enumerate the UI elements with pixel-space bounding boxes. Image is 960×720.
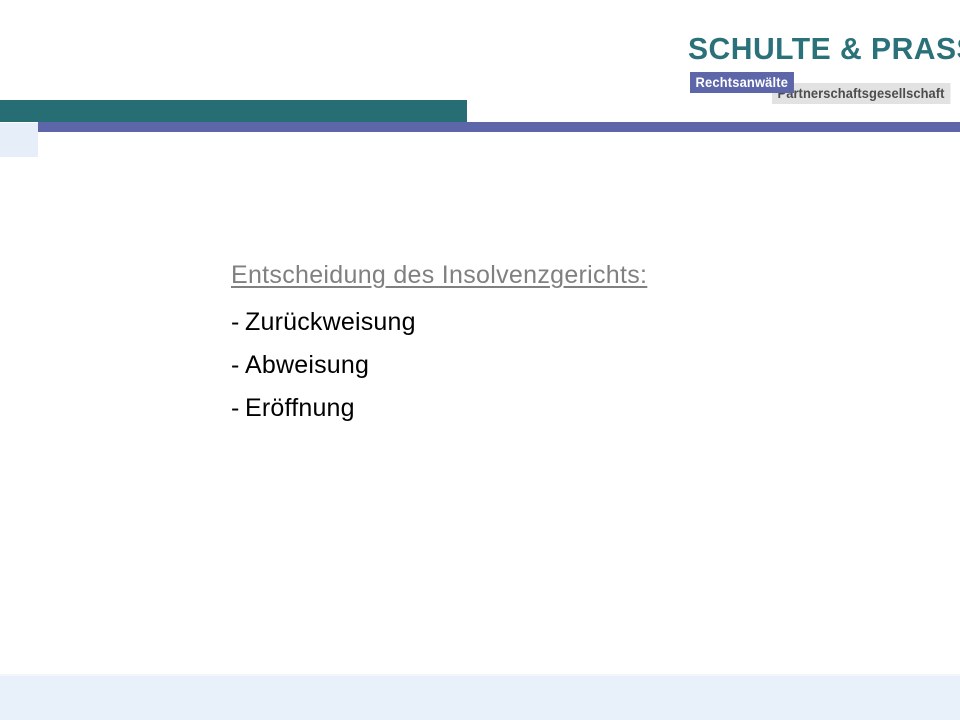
content-heading: Entscheidung des Insolvenzgerichts:: [231, 258, 881, 292]
list-item-label: Abweisung: [245, 351, 369, 379]
footer: SCHULTE & PRASSE | Stand 29.01.2016 | Fo…: [0, 676, 960, 720]
logo-subtitle-partnerschaftsgesellschaft: Partnerschaftsgesellschaft: [772, 83, 950, 104]
list-item: -Eröffnung: [231, 387, 881, 430]
logo-company-name: SCHULTE & PRASSE: [688, 32, 960, 66]
header-bar-teal: [0, 100, 467, 122]
slide: SCHULTE & PRASSE Rechtsanwälte Partnersc…: [0, 0, 960, 720]
bullet-dash: -: [231, 301, 245, 344]
header-bar-purple: [38, 122, 960, 132]
list-item: -Abweisung: [231, 344, 881, 387]
logo-subtitle-rechtsanwaelte: Rechtsanwälte: [690, 72, 794, 93]
list-item-label: Eröffnung: [245, 394, 355, 422]
list-item: -Zurückweisung: [231, 301, 881, 344]
bullet-list: -Zurückweisung -Abweisung -Eröffnung: [231, 301, 881, 430]
company-logo: SCHULTE & PRASSE Rechtsanwälte Partnersc…: [686, 32, 934, 104]
header-corner-square: [0, 123, 38, 157]
list-item-label: Zurückweisung: [245, 308, 416, 336]
bullet-dash: -: [231, 387, 245, 430]
slide-content: Entscheidung des Insolvenzgerichts: -Zur…: [231, 258, 881, 430]
bullet-dash: -: [231, 344, 245, 387]
